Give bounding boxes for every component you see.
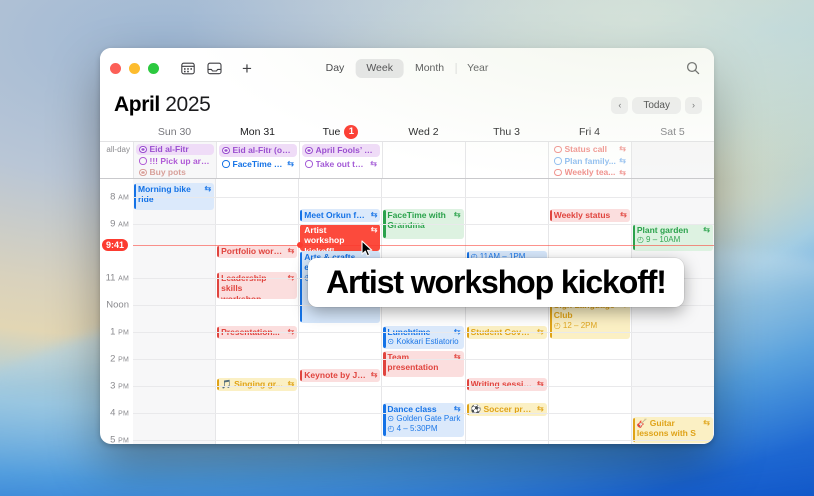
event-title: Morning bike ride	[138, 184, 201, 205]
repeat-icon: ⇆	[620, 210, 627, 220]
window-toolbar: + Day Week Month Year	[100, 48, 714, 88]
event-dot-icon	[305, 160, 313, 168]
today-badge: 1	[344, 125, 358, 139]
current-time-badge: 9:41	[102, 239, 128, 251]
event-title: Weekly status	[554, 210, 617, 220]
event-dot-icon	[554, 157, 562, 165]
calendar-event[interactable]: Weekly status⇆	[550, 209, 630, 222]
repeat-icon: ⇆	[288, 246, 295, 256]
search-icon[interactable]	[683, 58, 703, 78]
add-event-button[interactable]: +	[235, 57, 259, 79]
all-day-col-sun[interactable]: Eid al-Fitr!!! Pick up arts...Buy pots	[133, 142, 216, 178]
desktop-wallpaper: + Day Week Month Year April 2025 ‹ Toda	[0, 0, 814, 496]
repeat-icon: ⇆	[288, 379, 295, 389]
repeat-icon: ⇆	[703, 225, 710, 235]
all-day-event[interactable]: Buy pots	[136, 167, 214, 178]
day-header-mon[interactable]: Mon 31	[216, 126, 299, 138]
day-col-sun[interactable]: Morning bike ride⇆	[133, 179, 215, 444]
event-meta: ⊙ Golden Gate Park	[387, 414, 460, 424]
event-title: Portfolio work...	[221, 246, 284, 256]
day-header-sat[interactable]: Sat 5	[631, 126, 714, 138]
all-day-col-sat[interactable]	[631, 142, 714, 178]
all-day-event-title: Take out the...	[316, 159, 368, 170]
calendar-event[interactable]: Plant garden⇆◴ 9 – 10AM	[633, 224, 713, 251]
day-col-sat[interactable]: Plant garden⇆◴ 9 – 10AM🎸 Guitar lessons …	[631, 179, 714, 444]
mouse-cursor	[361, 240, 373, 258]
minimize-button[interactable]	[129, 63, 140, 74]
hour-gridline	[133, 332, 714, 333]
current-time-dot	[297, 242, 303, 248]
event-title: 🎸 Guitar lessons with S	[637, 418, 700, 439]
all-day-event-title: Eid al-Fitr (obs...	[233, 145, 295, 156]
all-day-event[interactable]: Eid al-Fitr (obs...	[219, 144, 297, 157]
time-gutter: 8 AM9 AM11 AMNoon1 PM2 PM3 PM4 PM5 PM	[100, 179, 133, 444]
event-title: Writing sessio...	[471, 379, 534, 389]
event-dot-icon	[305, 147, 313, 155]
all-day-event[interactable]: Status call⇆	[551, 144, 629, 155]
calendar-event[interactable]: Leadership skills workshop⇆	[217, 272, 297, 299]
traffic-light-group	[110, 63, 159, 74]
calendar-event[interactable]: 🎵 Singing gr...⇆	[217, 378, 297, 391]
all-day-row: all-day Eid al-Fitr!!! Pick up arts...Bu…	[100, 141, 714, 179]
view-tab-year[interactable]: Year	[456, 59, 499, 78]
month-title-row: April 2025 ‹ Today ›	[100, 88, 714, 122]
all-day-event-title: Status call	[565, 144, 617, 155]
hour-gridline	[133, 359, 714, 360]
time-grid: 8 AM9 AM11 AMNoon1 PM2 PM3 PM4 PM5 PM Mo…	[100, 179, 714, 444]
all-day-col-tue[interactable]: April Fools’ DayTake out the...⇆	[299, 142, 382, 178]
repeat-icon: ⇆	[537, 379, 544, 389]
day-col-thu[interactable]: ◴ 11AM – 1PMStudent Gover...⇆Writing ses…	[465, 179, 548, 444]
hour-gridline	[133, 386, 714, 387]
time-label: 5 PM	[110, 435, 129, 445]
hour-gridline	[133, 440, 714, 441]
calendar-event[interactable]: Keynote by Ja...⇆	[300, 369, 380, 382]
all-day-event-title: April Fools’ Day	[316, 145, 378, 156]
event-meta: ⊙ Kokkari Estiatorio	[387, 337, 460, 347]
day-col-mon[interactable]: Portfolio work...⇆Leadership skills work…	[215, 179, 298, 444]
calendar-event[interactable]: ⚽ Soccer pra...⇆	[467, 403, 547, 416]
day-col-fri[interactable]: Weekly status⇆Sign Language Club⇆◴ 12 – …	[548, 179, 631, 444]
repeat-icon: ⇆	[619, 168, 626, 178]
time-label: Noon	[106, 300, 129, 311]
all-day-col-mon[interactable]: Eid al-Fitr (obs...FaceTime G...⇆	[216, 142, 299, 178]
event-title: Team presentation	[387, 352, 450, 373]
all-day-event[interactable]: !!! Pick up arts...	[136, 156, 214, 167]
calendar-event[interactable]: Team presentation⇆	[383, 351, 463, 377]
all-day-event-title: !!! Pick up arts...	[150, 156, 212, 167]
time-label: 4 PM	[110, 408, 129, 419]
event-title: 🎵 Singing gr...	[221, 379, 284, 389]
all-day-event-title: Eid al-Fitr	[150, 144, 212, 155]
event-dot-icon	[139, 169, 147, 177]
hour-gridline	[133, 224, 714, 225]
event-dot-icon	[139, 157, 147, 165]
day-columns: Morning bike ride⇆ Portfolio work...⇆Lea…	[133, 179, 714, 444]
all-day-label: all-day	[100, 142, 133, 178]
close-button[interactable]	[110, 63, 121, 74]
event-title: Meet Orkun fo...	[304, 210, 367, 220]
calendar-event[interactable]: Writing sessio...⇆	[467, 378, 547, 391]
chevron-right-icon[interactable]: ›	[685, 97, 702, 114]
calendar-event[interactable]: Meet Orkun fo...⇆	[300, 209, 380, 222]
event-meta-time: ◴ 4 – 5:30PM	[387, 424, 460, 434]
day-header-fri[interactable]: Fri 4	[548, 126, 631, 138]
view-tab-day[interactable]: Day	[315, 59, 356, 78]
time-label: 3 PM	[110, 381, 129, 392]
time-label: 11 AM	[106, 273, 129, 284]
day-header-wed[interactable]: Wed 2	[382, 126, 465, 138]
event-title: FaceTime with Grandma	[387, 210, 450, 231]
repeat-icon: ⇆	[619, 156, 626, 166]
all-day-event-title: FaceTime G...	[233, 159, 285, 170]
calendar-event[interactable]: Portfolio work...⇆	[217, 245, 297, 258]
callout-text: Artist workshop kickoff!	[326, 264, 666, 301]
chevron-left-icon[interactable]: ‹	[611, 97, 628, 114]
repeat-icon: ⇆	[454, 352, 461, 362]
event-title: Artist workshop kickoff!	[304, 225, 367, 251]
all-day-event-title: Buy pots	[150, 167, 212, 178]
view-segmented-control[interactable]: Day Week Month Year	[315, 57, 500, 79]
event-meta: ◴ 12 – 2PM	[554, 321, 627, 331]
zoom-button[interactable]	[148, 63, 159, 74]
current-time-line	[133, 245, 714, 246]
callout-tooltip: Artist workshop kickoff!	[308, 258, 684, 307]
all-day-col-thu[interactable]	[465, 142, 548, 178]
repeat-icon: ⇆	[454, 210, 461, 220]
date-navigation: ‹ Today ›	[611, 97, 702, 114]
event-title: Leadership skills workshop	[221, 273, 284, 299]
all-day-event[interactable]: April Fools’ Day	[302, 144, 380, 157]
hour-gridline	[133, 413, 714, 414]
repeat-icon: ⇆	[371, 225, 378, 235]
all-day-event[interactable]: Take out the...⇆	[302, 158, 380, 171]
repeat-icon: ⇆	[287, 159, 294, 169]
time-label: 2 PM	[110, 354, 129, 365]
event-meta: ◴ 9 – 10AM	[637, 235, 710, 245]
all-day-event[interactable]: FaceTime G...⇆	[219, 158, 297, 171]
all-day-event-title: Weekly tea...	[565, 167, 617, 178]
repeat-icon: ⇆	[703, 418, 710, 428]
repeat-icon: ⇆	[371, 370, 378, 380]
all-day-event[interactable]: Eid al-Fitr	[136, 144, 214, 155]
view-tab-month[interactable]: Month	[404, 59, 455, 78]
event-dot-icon	[554, 146, 562, 154]
event-dot-icon	[139, 146, 147, 154]
view-tab-week[interactable]: Week	[355, 59, 404, 78]
hour-gridline	[133, 197, 714, 198]
calendar-icon[interactable]	[175, 57, 201, 79]
all-day-col-fri[interactable]: Status call⇆Plan family...⇆Weekly tea...…	[548, 142, 631, 178]
page-title: April 2025	[114, 93, 210, 117]
calendar-event[interactable]: Dance class⇆⊙ Golden Gate Park◴ 4 – 5:30…	[383, 403, 463, 437]
day-header-thu[interactable]: Thu 3	[465, 126, 548, 138]
event-title: Keynote by Ja...	[304, 370, 367, 380]
all-day-col-wed[interactable]	[382, 142, 465, 178]
time-label: 9 AM	[110, 219, 129, 230]
all-day-event[interactable]: Plan family...⇆	[551, 156, 629, 167]
day-header-sun[interactable]: Sun 30	[133, 126, 216, 138]
calendar-window: + Day Week Month Year April 2025 ‹ Toda	[100, 48, 714, 444]
title-year: 2025	[165, 93, 210, 116]
event-title: Plant garden	[637, 225, 700, 235]
all-day-event-title: Plan family...	[565, 156, 617, 167]
time-label: 1 PM	[110, 327, 129, 338]
repeat-icon: ⇆	[371, 210, 378, 220]
event-dot-icon	[222, 147, 230, 155]
all-day-event[interactable]: Weekly tea...⇆	[551, 167, 629, 178]
day-col-tue[interactable]: Meet Orkun fo...⇆Artist workshop kickoff…	[298, 179, 381, 444]
day-col-wed[interactable]: FaceTime with Grandma⇆Lunchtime⇆⊙ Kokkar…	[381, 179, 464, 444]
repeat-icon: ⇆	[370, 159, 377, 169]
calendar-event[interactable]: Lunchtime⇆⊙ Kokkari Estiatorio	[383, 326, 463, 349]
repeat-icon: ⇆	[204, 184, 211, 194]
today-button[interactable]: Today	[632, 97, 681, 114]
day-header-tue[interactable]: Tue 1	[299, 125, 382, 139]
title-month: April	[114, 93, 160, 116]
day-header-row: Sun 30 Mon 31 Tue 1 Wed 2 Thu 3 Fri 4 Sa…	[100, 122, 714, 141]
repeat-icon: ⇆	[619, 144, 626, 154]
event-dot-icon	[222, 160, 230, 168]
event-dot-icon	[554, 169, 562, 177]
inbox-icon[interactable]	[201, 57, 227, 79]
time-grid-scroll[interactable]: 8 AM9 AM11 AMNoon1 PM2 PM3 PM4 PM5 PM Mo…	[100, 179, 714, 444]
day-header-tue-label: Tue	[323, 126, 341, 138]
time-label: 8 AM	[110, 192, 129, 203]
